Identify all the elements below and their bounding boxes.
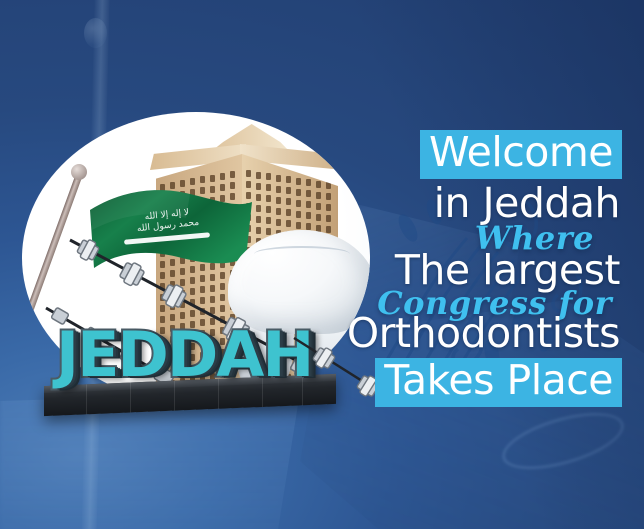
sign-letters-text: JEDDAH — [56, 318, 312, 391]
headline-welcome: Welcome — [420, 130, 622, 179]
headline-takes-place: Takes Place — [375, 358, 622, 407]
ghost-flagpole-finial — [84, 18, 107, 48]
headline-orthodontists: Orthodontists — [345, 311, 622, 356]
headline-block: Welcome in Jeddah Where The largest Cong… — [322, 130, 622, 407]
promotional-banner: لا إله إلا الله محمد رسول الله — [0, 0, 644, 529]
